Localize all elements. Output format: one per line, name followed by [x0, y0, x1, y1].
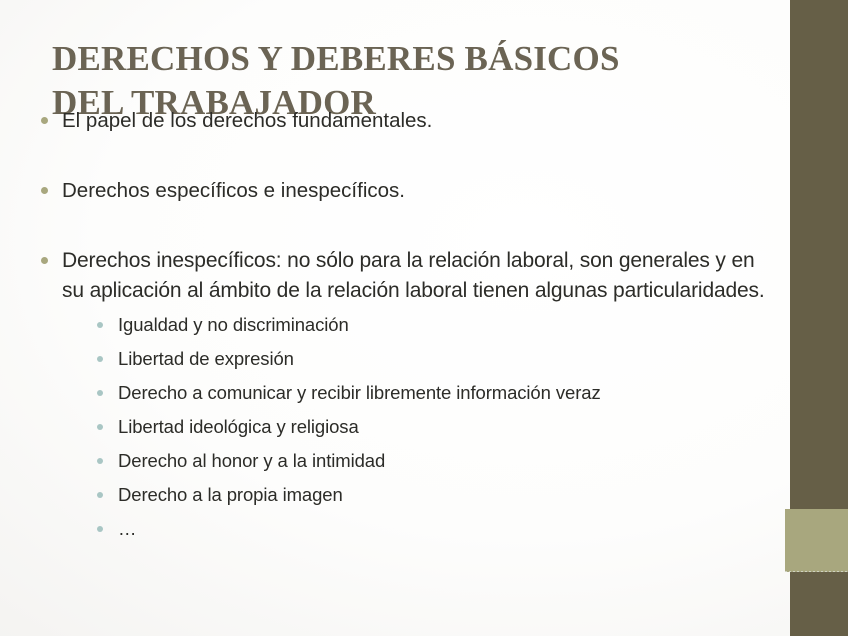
sub-bullet-text: Derecho a la propia imagen [118, 484, 343, 505]
sub-bullet-dot-icon [97, 390, 103, 396]
bullet-dot-icon [41, 117, 48, 124]
bullet-text: El papel de los derechos fundamentales. [62, 109, 432, 132]
sub-bullet-dot-icon [97, 492, 103, 498]
sub-bullet-item: Derecho a comunicar y recibir libremente… [88, 382, 774, 404]
sub-bullet-dot-icon [97, 424, 103, 430]
sub-bullet-item: Libertad de expresión [88, 348, 774, 370]
bullet-list-level-2: Igualdad y no discriminación Libertad de… [62, 314, 774, 540]
sub-bullet-text: Derecho al honor y a la intimidad [118, 450, 385, 471]
sub-bullet-item: Igualdad y no discriminación [88, 314, 774, 336]
sub-bullet-item: … [88, 518, 774, 540]
bullet-text: Derechos específicos e inespecíficos. [62, 179, 405, 202]
sub-bullet-dot-icon [97, 322, 103, 328]
bullet-text: Derechos inespecíficos: no sólo para la … [62, 249, 765, 302]
bullet-item: Derechos inespecíficos: no sólo para la … [36, 246, 774, 540]
sub-bullet-item: Libertad ideológica y religiosa [88, 416, 774, 438]
sub-bullet-item: Derecho a la propia imagen [88, 484, 774, 506]
sub-bullet-text: Libertad ideológica y religiosa [118, 416, 359, 437]
sidebar-accent-dark-top [790, 0, 848, 509]
sidebar-accent-light-band [785, 509, 848, 572]
slide-body: El papel de los derechos fundamentales. … [36, 106, 774, 552]
sub-bullet-text: … [118, 518, 136, 539]
sub-bullet-item: Derecho al honor y a la intimidad [88, 450, 774, 472]
bullet-dot-icon [41, 257, 48, 264]
bullet-list-level-1: El papel de los derechos fundamentales. … [36, 106, 774, 540]
sub-bullet-dot-icon [97, 458, 103, 464]
sub-bullet-dot-icon [97, 526, 103, 532]
bullet-dot-icon [41, 187, 48, 194]
bullet-item: Derechos específicos e inespecíficos. [36, 176, 774, 205]
sub-bullet-text: Derecho a comunicar y recibir libremente… [118, 382, 601, 403]
slide-canvas: DERECHOS Y DEBERES BÁSICOS DEL TRABAJADO… [0, 0, 848, 636]
sidebar-accent-dark-bottom [790, 572, 848, 636]
bullet-item: El papel de los derechos fundamentales. [36, 106, 774, 135]
sub-bullet-text: Libertad de expresión [118, 348, 294, 369]
sub-bullet-text: Igualdad y no discriminación [118, 314, 349, 335]
sub-bullet-dot-icon [97, 356, 103, 362]
